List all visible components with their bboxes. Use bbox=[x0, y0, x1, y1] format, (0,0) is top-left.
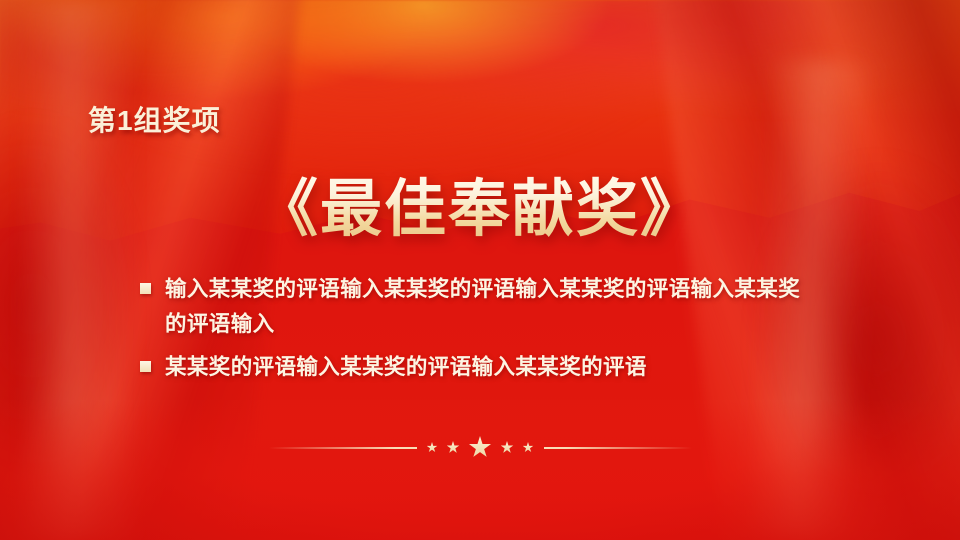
list-item-text: 某某奖的评语输入某某奖的评语输入某某奖的评语 bbox=[165, 350, 647, 385]
decorative-divider bbox=[0, 436, 960, 459]
star-icon bbox=[469, 436, 492, 459]
square-bullet-icon bbox=[140, 361, 151, 372]
slide-content: 第1组奖项 《最佳奉献奖》 输入某某奖的评语输入某某奖的评语输入某某奖的评语输入… bbox=[0, 0, 960, 540]
award-title: 《最佳奉献奖》 bbox=[0, 158, 960, 248]
star-icon bbox=[501, 441, 514, 454]
divider-rule-right bbox=[544, 447, 692, 449]
star-icon bbox=[427, 442, 438, 453]
award-comment-list: 输入某某奖的评语输入某某奖的评语输入某某奖的评语输入某某奖的评语输入 某某奖的评… bbox=[140, 272, 812, 392]
award-slide: 第1组奖项 《最佳奉献奖》 输入某某奖的评语输入某某奖的评语输入某某奖的评语输入… bbox=[0, 0, 960, 540]
divider-rule-left bbox=[269, 447, 417, 449]
list-item-text: 输入某某奖的评语输入某某奖的评语输入某某奖的评语输入某某奖的评语输入 bbox=[165, 272, 812, 342]
list-item: 输入某某奖的评语输入某某奖的评语输入某某奖的评语输入某某奖的评语输入 bbox=[140, 272, 812, 342]
star-icon bbox=[447, 441, 460, 454]
award-group-label: 第1组奖项 bbox=[88, 99, 221, 139]
square-bullet-icon bbox=[140, 283, 151, 294]
star-icon bbox=[523, 442, 534, 453]
list-item: 某某奖的评语输入某某奖的评语输入某某奖的评语 bbox=[140, 350, 812, 385]
divider-star-group bbox=[427, 436, 534, 459]
